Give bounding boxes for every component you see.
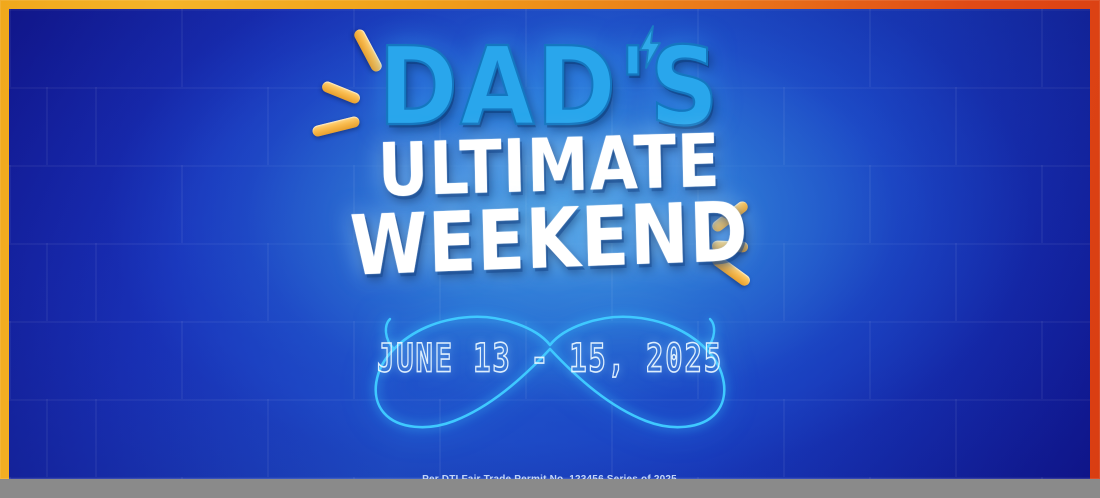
page-background-strip <box>0 479 1100 498</box>
event-date: JUNE 13 - 15, 2025 <box>377 337 723 382</box>
event-date-wrapper: JUNE 13 - 15, 2025 <box>9 341 1090 377</box>
headline-stack: DAD'S ULTIMATE WEEKEND <box>9 9 1090 479</box>
tertiary-headline: WEEKEND <box>349 193 750 286</box>
lightning-bolt-icon <box>637 25 663 69</box>
brick-wall-background: DAD'S ULTIMATE WEEKEND JUNE 13 - 15, 202… <box>9 9 1090 479</box>
promo-banner[interactable]: DAD'S ULTIMATE WEEKEND JUNE 13 - 15, 202… <box>0 0 1100 479</box>
screenshot-root: DAD'S ULTIMATE WEEKEND JUNE 13 - 15, 202… <box>0 0 1100 498</box>
